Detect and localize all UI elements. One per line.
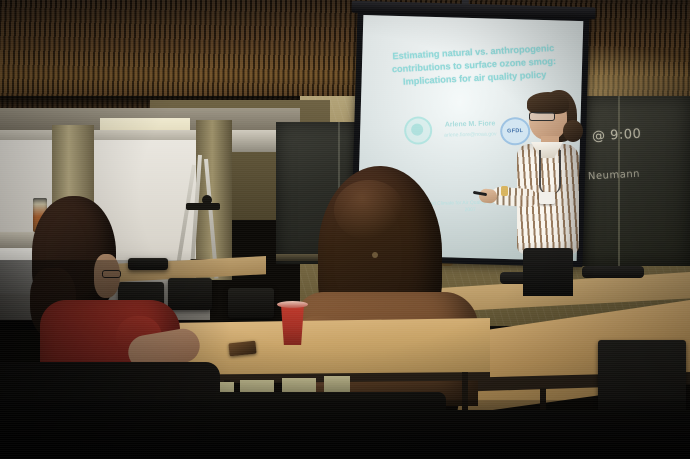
wristwatch-icon (501, 186, 508, 196)
chalkboard-text-time: @ 9:00 (592, 127, 642, 145)
cup-rim (277, 301, 308, 308)
photo-scene: @ 9:00 Neumann Estimating natural vs. an… (0, 0, 690, 459)
glasses-icon (529, 112, 555, 121)
bottom-shadow-overlay (0, 400, 690, 459)
presenter-hair-bun (563, 120, 583, 142)
audience2-hair-highlight (334, 180, 404, 240)
hair-clip-icon (372, 252, 378, 258)
chair-back (582, 266, 644, 278)
chalkboard-seam (618, 96, 620, 266)
slide-author-name: Arlene M. Fiore (445, 120, 496, 128)
lanyard-icon (539, 150, 561, 194)
badge-icon (539, 192, 555, 204)
chair (228, 288, 274, 318)
presenter-pants (523, 248, 573, 296)
presenter (505, 88, 587, 288)
presenter-hair-front (527, 92, 569, 114)
presenter-arm (490, 186, 537, 207)
